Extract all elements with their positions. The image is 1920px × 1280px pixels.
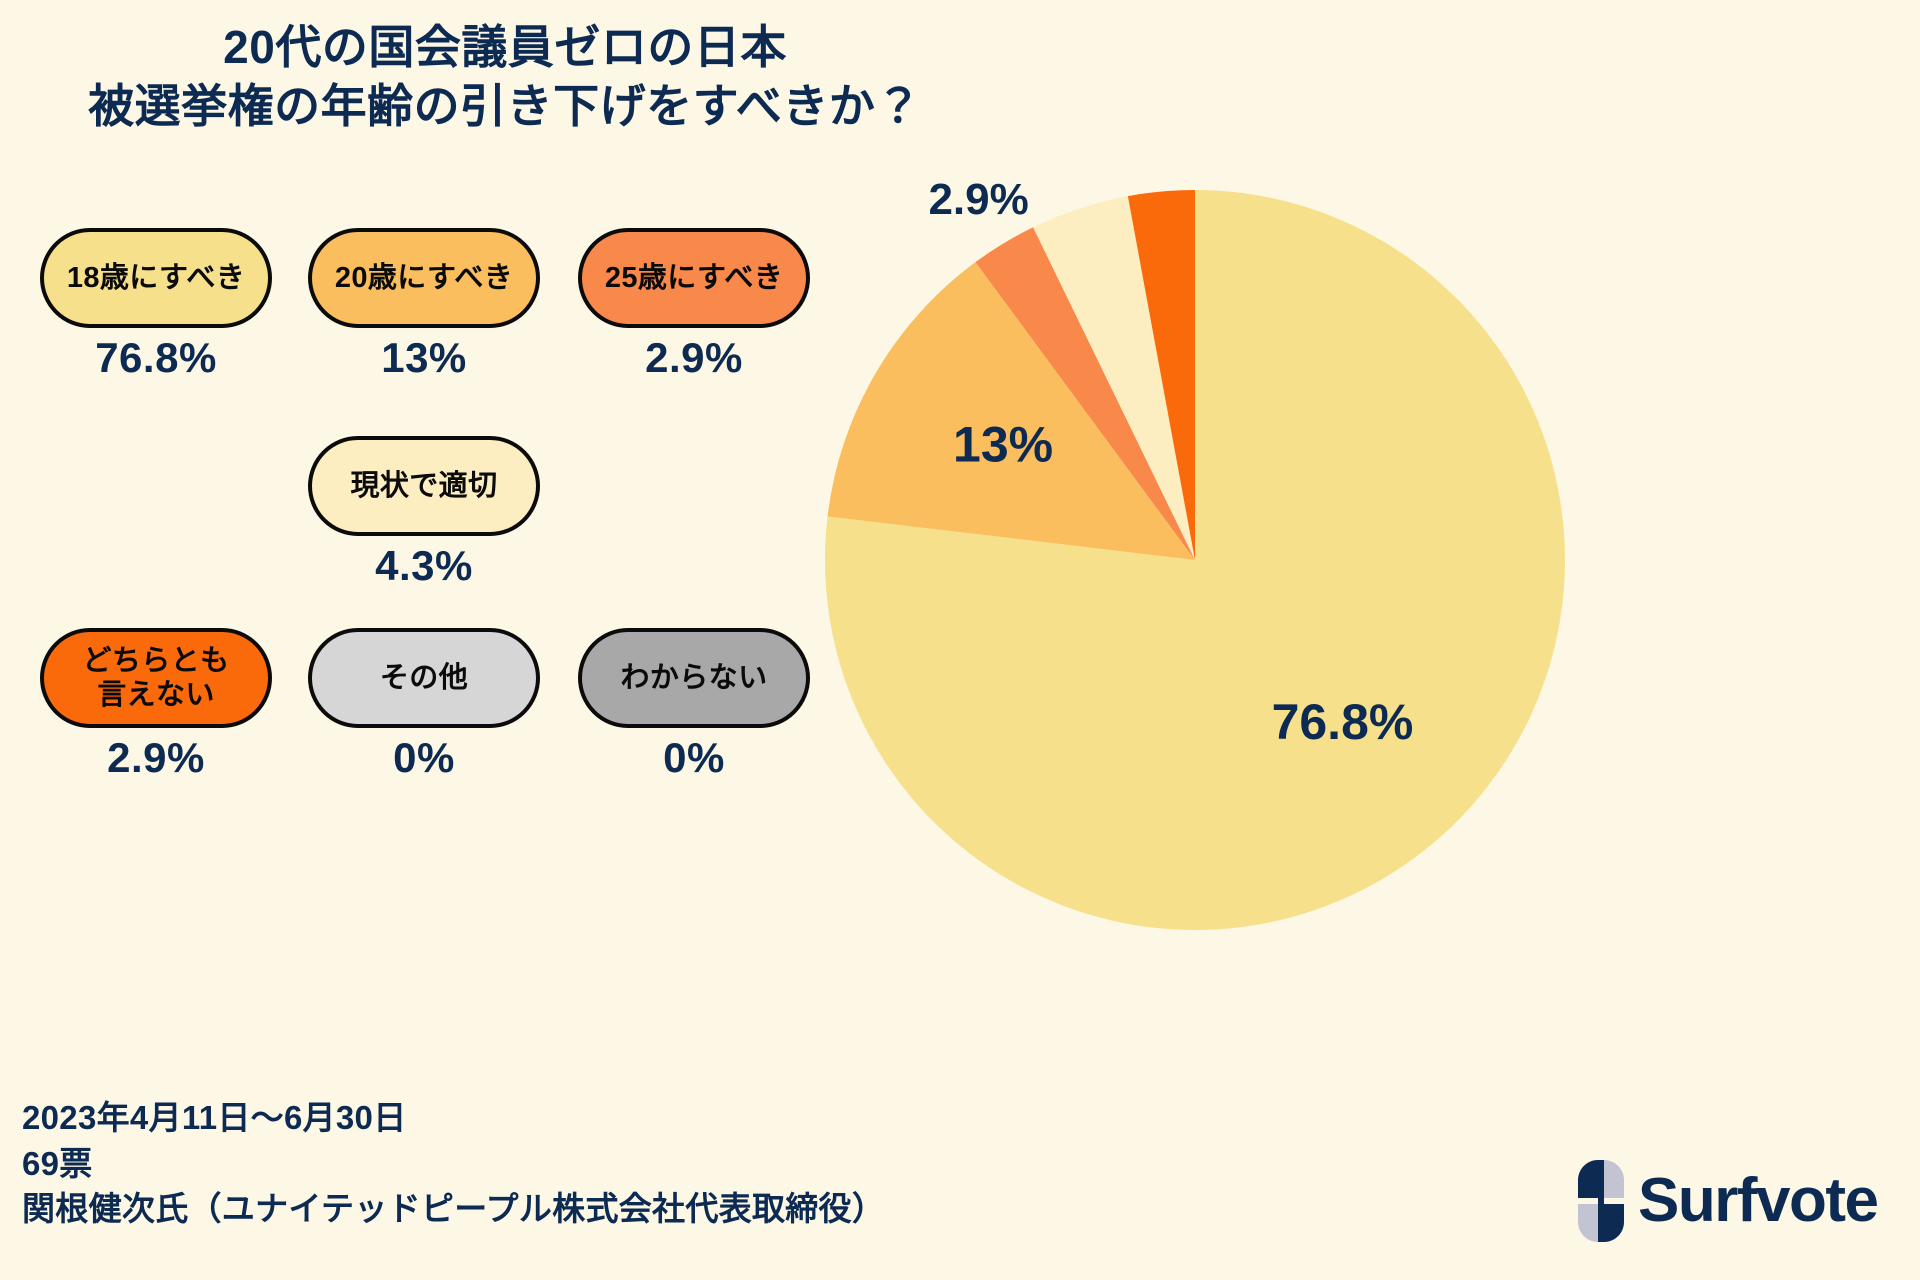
legend-badge-label-line2: 言えない xyxy=(97,679,215,711)
legend-badge-label: 20歳にすべき xyxy=(335,261,513,295)
legend-item-20sai: 20歳にすべき 13% xyxy=(308,228,540,382)
legend-percent: 2.9% xyxy=(40,734,272,782)
legend-item-sonota: その他 0% xyxy=(308,628,540,782)
surfvote-wordmark: Surfvote xyxy=(1638,1170,1877,1232)
title-line-1: 20代の国会議員ゼロの日本 xyxy=(0,18,1010,77)
legend-badge: 現状で適切 xyxy=(308,436,540,536)
legend-badge-label: どちらとも 言えない xyxy=(82,644,229,712)
footer-meta: 2023年4月11日〜6月30日 69票 関根健次氏（ユナイテッドピープル株式会… xyxy=(22,1095,885,1232)
legend-percent: 0% xyxy=(578,734,810,782)
legend-badge: その他 xyxy=(308,628,540,728)
legend-badge: 18歳にすべき xyxy=(40,228,272,328)
legend-percent: 2.9% xyxy=(578,334,810,382)
poll-period: 2023年4月11日〜6月30日 xyxy=(22,1095,885,1141)
surfvote-mark-icon xyxy=(1578,1160,1624,1242)
legend-percent: 0% xyxy=(308,734,540,782)
legend-badge-label: その他 xyxy=(380,661,468,695)
pie-slice-label: 4.3% xyxy=(1014,175,1114,184)
page-title: 20代の国会議員ゼロの日本 被選挙権の年齢の引き下げをすべきか？ xyxy=(0,18,1010,136)
legend-badge-label-line1: どちらとも xyxy=(82,645,229,677)
vote-count: 69票 xyxy=(22,1141,885,1187)
pie-slice-label: 76.8% xyxy=(1272,694,1414,750)
infographic-root: 20代の国会議員ゼロの日本 被選挙権の年齢の引き下げをすべきか？ 18歳にすべき… xyxy=(0,0,1920,1280)
legend-item-wakaranai: わからない 0% xyxy=(578,628,810,782)
title-line-2: 被選挙権の年齢の引き下げをすべきか？ xyxy=(0,77,1010,136)
legend-percent: 13% xyxy=(308,334,540,382)
legend-badge-label: 18歳にすべき xyxy=(67,261,245,295)
legend-badge-label: わからない xyxy=(620,661,767,695)
legend-item-dochiratomo: どちらとも 言えない 2.9% xyxy=(40,628,272,782)
legend-percent: 4.3% xyxy=(308,542,540,590)
legend-group: 18歳にすべき 76.8% 20歳にすべき 13% 25歳にすべき 2.9% 現… xyxy=(0,208,880,828)
legend-badge: わからない xyxy=(578,628,810,728)
legend-badge: 25歳にすべき xyxy=(578,228,810,328)
surfvote-logo: Surfvote xyxy=(1578,1160,1877,1242)
legend-badge-label: 現状で適切 xyxy=(350,469,497,503)
legend-item-25sai: 25歳にすべき 2.9% xyxy=(578,228,810,382)
pie-chart: 76.8%13%2.9%4.3%2.9% xyxy=(820,175,1910,975)
legend-item-genjou: 現状で適切 4.3% xyxy=(308,436,540,590)
legend-item-18sai: 18歳にすべき 76.8% xyxy=(40,228,272,382)
poll-author: 関根健次氏（ユナイテッドピープル株式会社代表取締役） xyxy=(22,1186,885,1232)
pie-slice-label: 13% xyxy=(953,417,1053,473)
legend-badge: 20歳にすべき xyxy=(308,228,540,328)
pie-chart-svg: 76.8%13%2.9%4.3%2.9% xyxy=(820,175,1910,975)
legend-badge: どちらとも 言えない xyxy=(40,628,272,728)
legend-percent: 76.8% xyxy=(40,334,272,382)
legend-badge-label: 25歳にすべき xyxy=(605,261,783,295)
